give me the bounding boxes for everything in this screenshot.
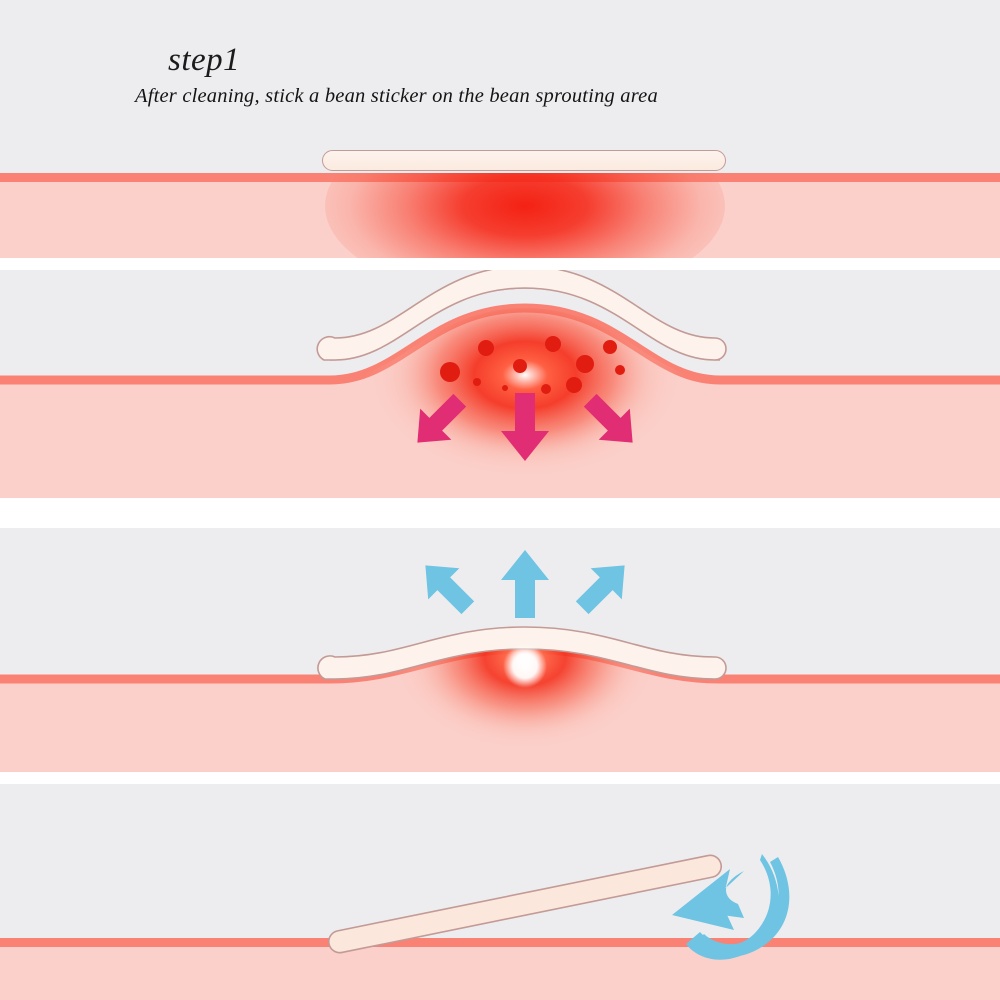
step-1-caption: After cleaning, stick a bean sticker on … xyxy=(135,85,658,108)
skin-top-edge xyxy=(0,938,1000,947)
blue-arrow-up-left xyxy=(410,550,484,624)
pink-arrows-2 xyxy=(402,385,648,461)
skin-top-edge xyxy=(0,308,1000,380)
bean-sticker-peeling-4[interactable] xyxy=(327,853,723,954)
step-1-title: step1 xyxy=(168,42,240,79)
instruction-infographic: step1 After cleaning, stick a bean stick… xyxy=(0,0,1000,1000)
bean-sticker-arched-2[interactable] xyxy=(317,270,726,360)
bean-sticker-shallow-arch-3[interactable] xyxy=(318,627,726,679)
step-panel-4: step4 From the edge, gently peel off the… xyxy=(0,784,1000,1000)
step-panel-3: step3 Absorbing bean secretions xyxy=(0,528,1000,772)
step-panel-2: step2 Catalyze the ripening of new beans xyxy=(0,270,1000,498)
white-core-spot xyxy=(503,644,547,688)
bean-sticker-flat-1[interactable] xyxy=(322,150,726,171)
skin-band-shallow-bump-3 xyxy=(0,528,1000,772)
red-glow-2 xyxy=(365,270,685,480)
pink-arrow-down xyxy=(501,393,549,461)
blue-arrow-up-right xyxy=(567,550,641,624)
blue-arrows-3 xyxy=(410,550,640,624)
red-dots-2 xyxy=(440,336,625,394)
step-panel-1: step1 After cleaning, stick a bean stick… xyxy=(0,0,1000,258)
peel-illustration-4 xyxy=(0,784,1000,1000)
blue-arrow-up xyxy=(501,550,549,618)
skin-surface xyxy=(0,308,1000,498)
skin-surface xyxy=(0,938,1000,1000)
pink-arrow-down-right xyxy=(575,385,649,459)
skin-surface xyxy=(0,173,1000,258)
skin-top-edge xyxy=(0,173,1000,182)
pink-arrow-down-left xyxy=(402,385,476,459)
skin-top-edge xyxy=(0,649,1000,679)
red-glow-3 xyxy=(390,585,660,772)
skin-band-1 xyxy=(0,173,1000,258)
skin-surface xyxy=(0,649,1000,772)
skin-band-bump-2 xyxy=(0,270,1000,498)
blue-curved-peel-arrow xyxy=(672,854,789,960)
